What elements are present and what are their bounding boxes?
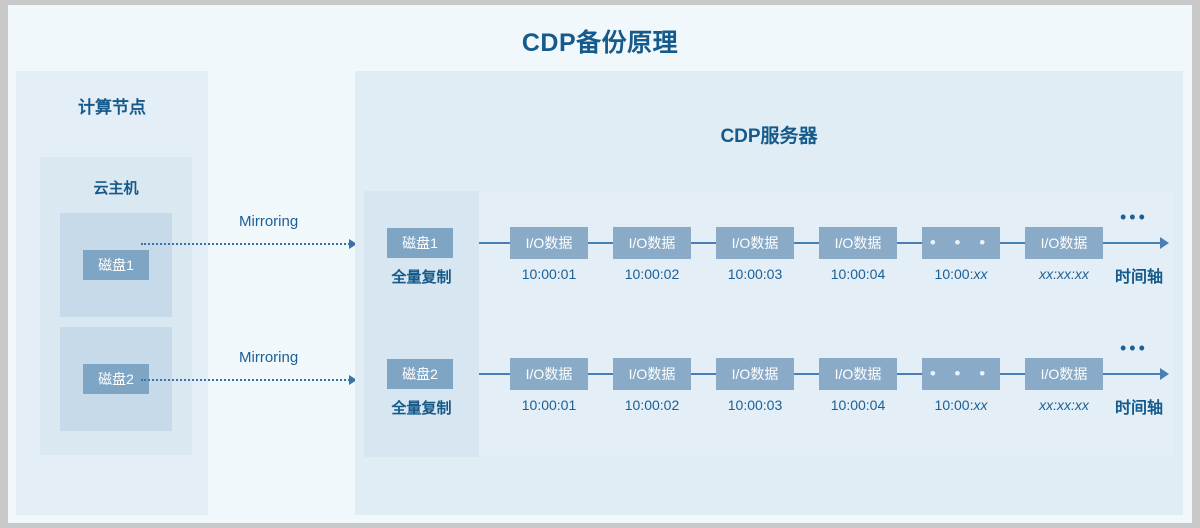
io-box-1-5-ellipsis[interactable]: • • • — [922, 227, 1000, 259]
io-box-2-3[interactable]: I/O数据 — [716, 358, 794, 390]
io-time-2-2: 10:00:02 — [597, 397, 707, 413]
io-box-1-3[interactable]: I/O数据 — [716, 227, 794, 259]
timeline-arrowhead-1 — [1160, 237, 1169, 249]
cdp-disk-chip-2[interactable]: 磁盘2 — [387, 359, 453, 389]
io-time-2-5: 10:00:xx — [906, 397, 1016, 413]
timeline-row-2: 磁盘2 全量复制 I/O数据 10:00:01 I/O数据 10:00:02 I… — [364, 342, 1174, 452]
timeline-axis-label-2: 时间轴 — [1115, 394, 1163, 418]
timeline-axis-label-1: 时间轴 — [1115, 263, 1163, 287]
cloud-host-box: 云主机 磁盘1 磁盘2 — [40, 157, 192, 455]
timeline-arrowhead-2 — [1160, 368, 1169, 380]
io-time-1-6: xx:xx:xx — [1009, 266, 1119, 282]
mirroring-line-1 — [141, 243, 353, 245]
io-time-1-2: 10:00:02 — [597, 266, 707, 282]
mirroring-label-2: Mirroring — [239, 349, 298, 366]
compute-node-title: 计算节点 — [16, 93, 208, 118]
io-time-1-5: 10:00:xx — [906, 266, 1016, 282]
cdp-server-title: CDP服务器 — [355, 121, 1183, 148]
io-box-1-1[interactable]: I/O数据 — [510, 227, 588, 259]
cdp-timeline-area: 磁盘1 全量复制 I/O数据 10:00:01 I/O数据 10:00:02 I… — [364, 191, 1174, 457]
cloud-host-title: 云主机 — [40, 177, 192, 198]
ellipsis-dots-1: ••• — [1120, 207, 1148, 228]
cdp-server-panel: CDP服务器 磁盘1 全量复制 I/O数据 10:00:01 I/O数据 10:… — [355, 71, 1183, 515]
io-time-2-4: 10:00:04 — [803, 397, 913, 413]
mirroring-label-1: Mirroring — [239, 213, 298, 230]
io-time-2-6: xx:xx:xx — [1009, 397, 1119, 413]
io-box-1-4[interactable]: I/O数据 — [819, 227, 897, 259]
io-box-1-6[interactable]: I/O数据 — [1025, 227, 1103, 259]
io-box-2-2[interactable]: I/O数据 — [613, 358, 691, 390]
io-box-2-4[interactable]: I/O数据 — [819, 358, 897, 390]
cdp-disk-chip-1[interactable]: 磁盘1 — [387, 228, 453, 258]
io-time-1-3: 10:00:03 — [700, 266, 810, 282]
ellipsis-dots-2: ••• — [1120, 338, 1148, 359]
io-time-2-1: 10:00:01 — [494, 397, 604, 413]
io-time-1-4: 10:00:04 — [803, 266, 913, 282]
io-box-2-5-ellipsis[interactable]: • • • — [922, 358, 1000, 390]
compute-node-panel: 计算节点 云主机 磁盘1 磁盘2 — [16, 71, 208, 515]
io-box-2-6[interactable]: I/O数据 — [1025, 358, 1103, 390]
io-time-2-3: 10:00:03 — [700, 397, 810, 413]
disk-area-1: 磁盘1 — [60, 213, 172, 317]
disk-chip-1[interactable]: 磁盘1 — [83, 250, 149, 280]
timeline-row-1: 磁盘1 全量复制 I/O数据 10:00:01 I/O数据 10:00:02 I… — [364, 211, 1174, 321]
full-replication-label-2: 全量复制 — [364, 397, 479, 418]
diagram-canvas: CDP备份原理 计算节点 云主机 磁盘1 磁盘2 Mirroring Mirro… — [8, 5, 1192, 523]
io-box-2-1[interactable]: I/O数据 — [510, 358, 588, 390]
mirroring-line-2 — [141, 379, 353, 381]
page-title: CDP备份原理 — [8, 23, 1192, 59]
full-replication-label-1: 全量复制 — [364, 266, 479, 287]
io-time-1-1: 10:00:01 — [494, 266, 604, 282]
io-box-1-2[interactable]: I/O数据 — [613, 227, 691, 259]
disk-chip-2[interactable]: 磁盘2 — [83, 364, 149, 394]
